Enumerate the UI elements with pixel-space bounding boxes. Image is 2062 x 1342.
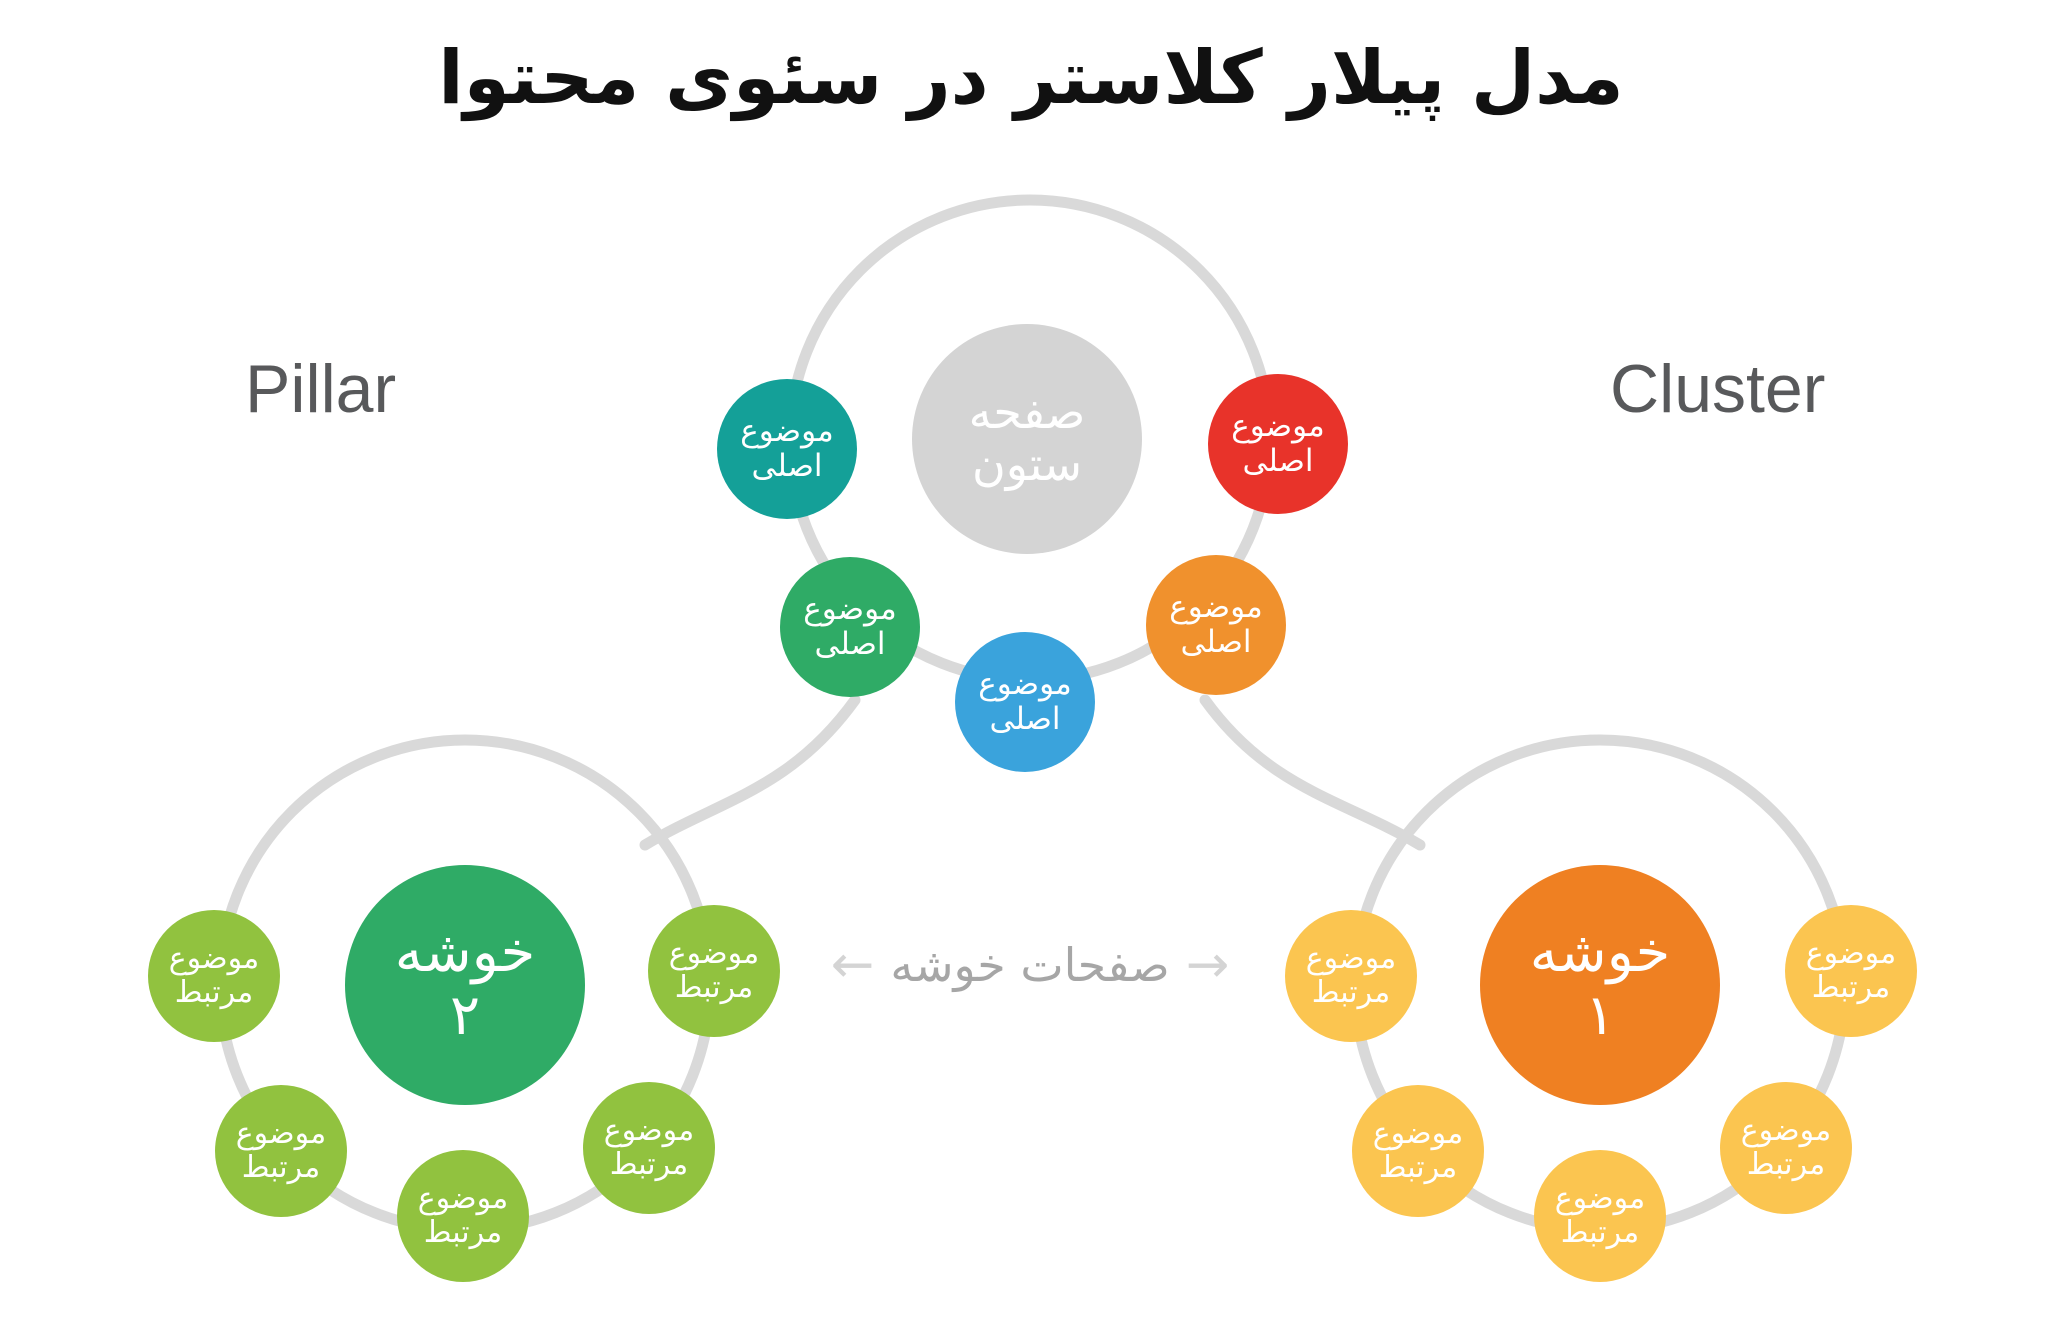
satellite-line2: اصلی [814,627,885,662]
cluster-pages-text: صفحات خوشه [890,938,1169,992]
satellite-line1: موضوع [418,1182,508,1216]
satellite-line2: اصلی [989,702,1060,737]
cluster-2-satellite-4[interactable]: موضوع مرتبط [583,1082,715,1214]
satellite-line2: مرتبط [610,1148,689,1182]
cluster-1-satellite-5[interactable]: موضوع مرتبط [1785,905,1917,1037]
cluster-1-line2: ۱ [1585,985,1615,1048]
satellite-line1: موضوع [978,667,1071,702]
wire-pillar-to-cluster1 [1205,700,1420,845]
cluster-2-satellite-2[interactable]: موضوع مرتبط [215,1085,347,1217]
arrow-right-icon: → [1186,939,1230,991]
satellite-line2: اصلی [751,449,822,484]
pillar-label: Pillar [245,350,396,428]
satellite-line1: موضوع [604,1114,694,1148]
pillar-page-line1: صفحه [969,387,1086,439]
satellite-line1: موضوع [1169,590,1262,625]
page-title: مدل پیلار کلاستر در سئوی محتوا [0,36,2062,121]
satellite-line2: اصلی [1180,625,1251,660]
arrow-left-icon: ← [831,939,875,991]
satellite-line1: موضوع [1306,942,1396,976]
satellite-line1: موضوع [169,942,259,976]
satellite-line1: موضوع [236,1117,326,1151]
cluster-1-line1: خوشه [1530,922,1671,985]
satellite-line2: مرتبط [1812,971,1891,1005]
cluster-label: Cluster [1610,350,1825,428]
satellite-line1: موضوع [669,937,759,971]
satellite-line2: مرتبط [1747,1148,1826,1182]
cluster-2-satellite-5[interactable]: موضوع مرتبط [648,905,780,1037]
satellite-line1: موضوع [1741,1114,1831,1148]
satellite-line2: مرتبط [1379,1151,1458,1185]
wire-pillar-to-cluster2 [645,700,855,845]
satellite-line1: موضوع [1231,409,1324,444]
satellite-line2: مرتبط [175,976,254,1010]
satellite-line1: موضوع [1555,1182,1645,1216]
cluster-2-line2: ۲ [450,985,480,1048]
cluster-2-satellite-1[interactable]: موضوع مرتبط [148,910,280,1042]
pillar-satellite-red[interactable]: موضوع اصلی [1208,374,1348,514]
cluster-1-node[interactable]: خوشه ۱ [1480,865,1720,1105]
satellite-line2: مرتبط [242,1151,321,1185]
satellite-line2: مرتبط [1561,1216,1640,1250]
pillar-satellite-blue[interactable]: موضوع اصلی [955,632,1095,772]
satellite-line1: موضوع [803,592,896,627]
cluster-pages-caption: → صفحات خوشه ← [800,930,1260,1000]
pillar-page-line2: ستون [972,439,1082,491]
satellite-line1: موضوع [1806,937,1896,971]
cluster-2-line1: خوشه [395,922,536,985]
cluster-1-satellite-3[interactable]: موضوع مرتبط [1534,1150,1666,1282]
cluster-1-satellite-1[interactable]: موضوع مرتبط [1285,910,1417,1042]
satellite-line2: مرتبط [424,1216,503,1250]
cluster-2-node[interactable]: خوشه ۲ [345,865,585,1105]
satellite-line1: موضوع [1373,1117,1463,1151]
satellite-line2: مرتبط [1312,976,1391,1010]
cluster-1-satellite-4[interactable]: موضوع مرتبط [1720,1082,1852,1214]
diagram-canvas: مدل پیلار کلاستر در سئوی محتوا Pillar Cl… [0,0,2062,1342]
pillar-page-node[interactable]: صفحه ستون [912,324,1142,554]
pillar-satellite-green[interactable]: موضوع اصلی [780,557,920,697]
satellite-line2: مرتبط [675,971,754,1005]
cluster-2-satellite-3[interactable]: موضوع مرتبط [397,1150,529,1282]
satellite-line1: موضوع [740,414,833,449]
satellite-line2: اصلی [1242,444,1313,479]
cluster-1-satellite-2[interactable]: موضوع مرتبط [1352,1085,1484,1217]
pillar-satellite-teal[interactable]: موضوع اصلی [717,379,857,519]
pillar-satellite-orange[interactable]: موضوع اصلی [1146,555,1286,695]
